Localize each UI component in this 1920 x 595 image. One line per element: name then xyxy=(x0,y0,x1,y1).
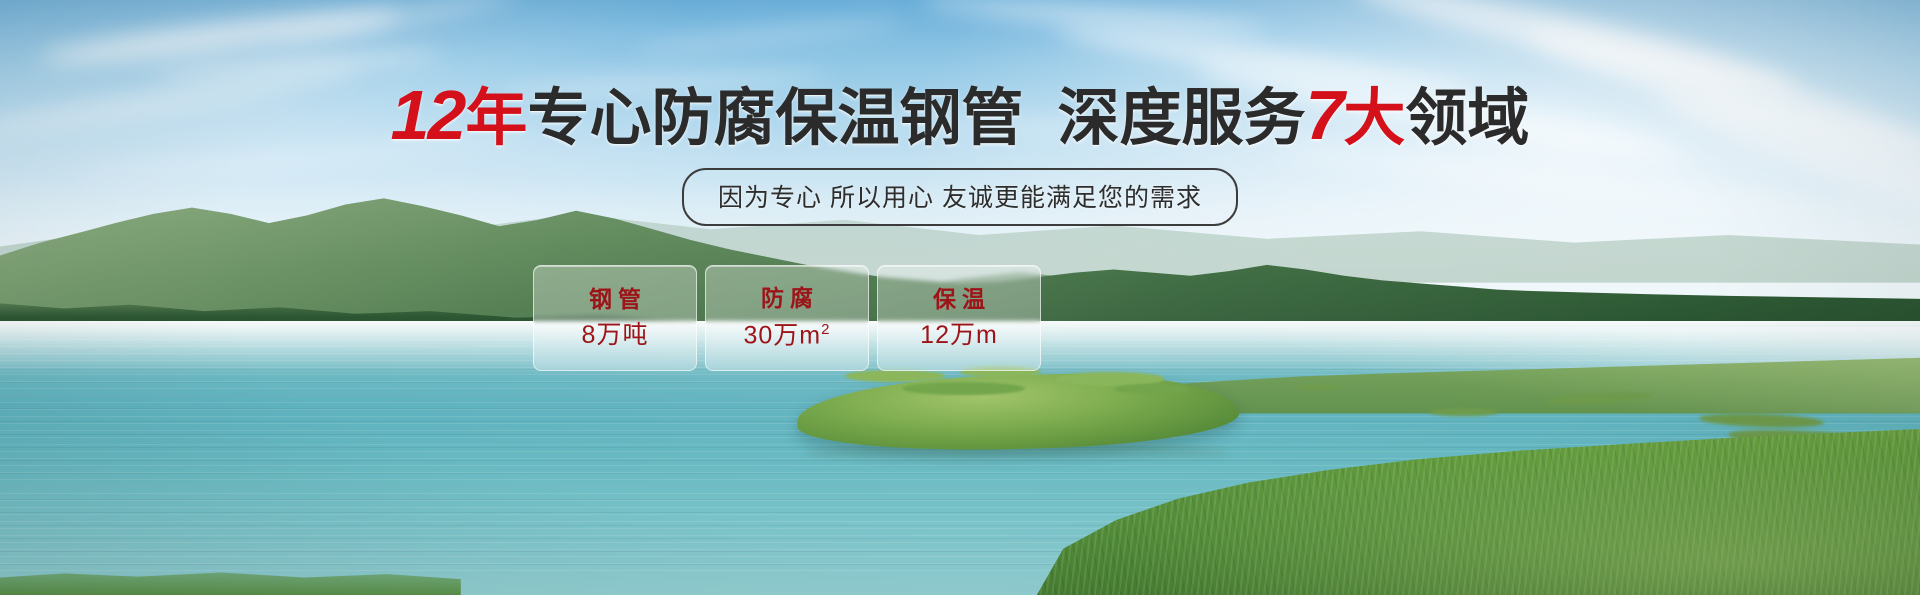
stat-card-label: 钢管 xyxy=(583,288,647,311)
headline-segment-2: 深度服务 xyxy=(1057,84,1305,153)
stat-card-value: 30万m2 xyxy=(744,322,831,348)
hero-banner: 12年专心防腐保温钢管深度服务7大领域 因为专心 所以用心 友诚更能满足您的需求… xyxy=(0,0,1920,595)
headline-years-number: 12 xyxy=(391,76,465,154)
stat-card-label: 防腐 xyxy=(755,287,819,310)
headline-years-unit: 年 xyxy=(465,84,527,153)
stat-card-value-main: 30万m xyxy=(744,322,822,350)
headline-fields-number: 7 xyxy=(1305,76,1342,154)
stat-card-anticorrosion: 防腐 30万m2 xyxy=(705,265,869,371)
stat-card-value-main: 8万吨 xyxy=(582,321,649,349)
headline-fields-unit: 大 xyxy=(1343,84,1405,153)
headline-segment-1: 专心防腐保温钢管 xyxy=(527,84,1023,153)
stat-card-insulation: 保温 12万m xyxy=(877,265,1041,371)
stat-card-steel-pipe: 钢管 8万吨 xyxy=(533,265,697,371)
headline-segment-3: 领域 xyxy=(1405,84,1529,153)
banner-subtitle-pill: 因为专心 所以用心 友诚更能满足您的需求 xyxy=(682,168,1238,226)
banner-headline: 12年专心防腐保温钢管深度服务7大领域 xyxy=(0,80,1920,150)
stat-card-value: 12万m xyxy=(920,323,998,348)
stat-card-value-main: 12万m xyxy=(920,321,998,349)
stat-cards: 钢管 8万吨 防腐 30万m2 保温 12万m xyxy=(533,265,1041,371)
stat-card-label: 保温 xyxy=(927,288,991,311)
banner-subtitle-wrap: 因为专心 所以用心 友诚更能满足您的需求 xyxy=(0,168,1920,226)
stat-card-value-superscript: 2 xyxy=(821,321,830,338)
banner-content: 12年专心防腐保温钢管深度服务7大领域 因为专心 所以用心 友诚更能满足您的需求… xyxy=(0,0,1920,595)
stat-card-value: 8万吨 xyxy=(582,323,649,348)
